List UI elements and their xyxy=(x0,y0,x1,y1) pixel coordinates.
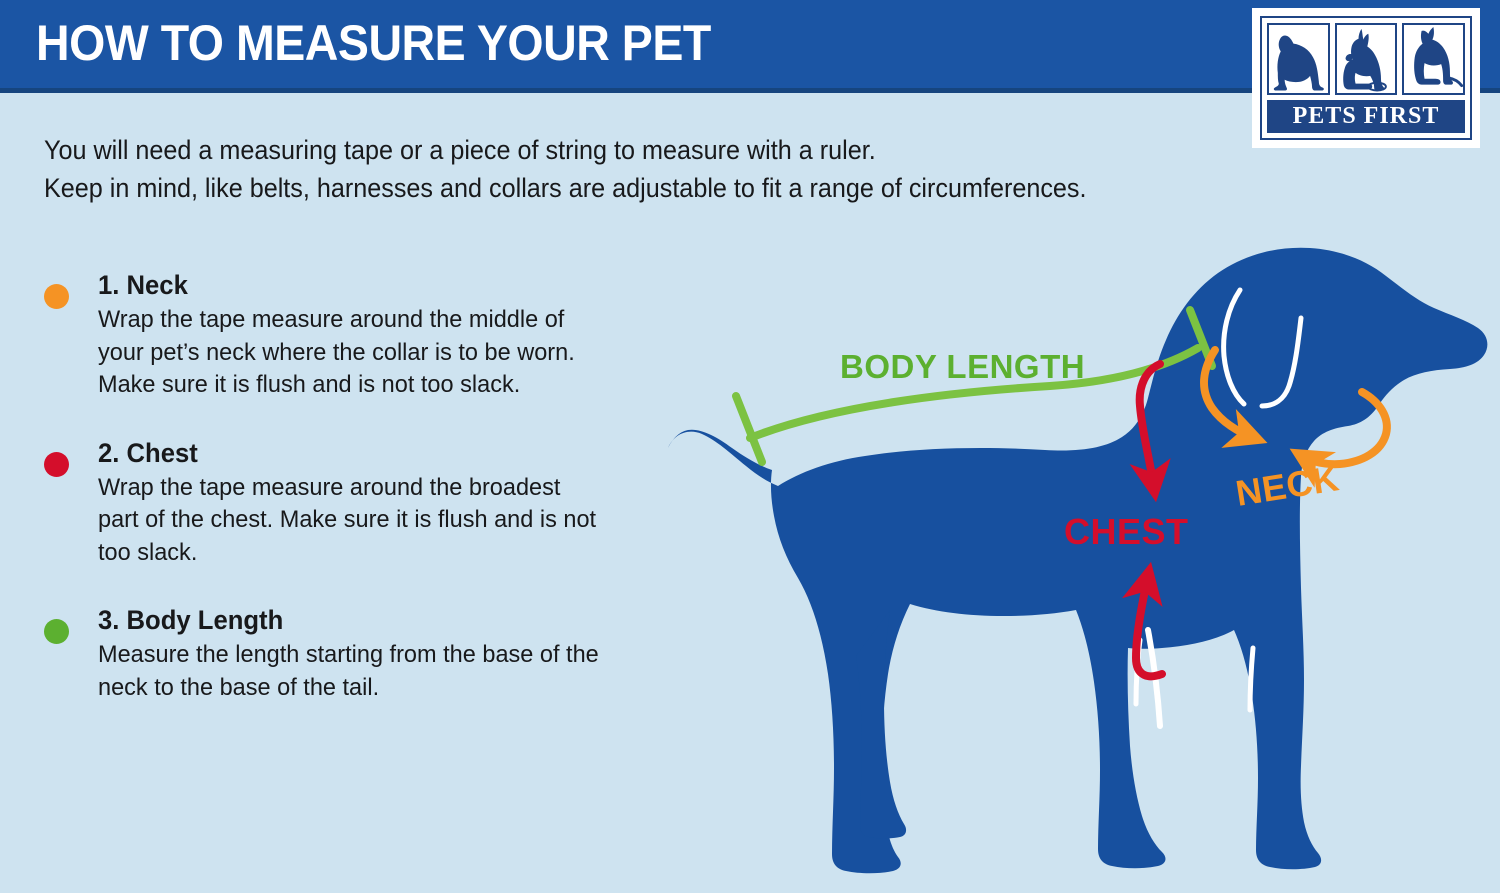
dog-silhouette-icon xyxy=(668,248,1487,874)
body-length-label: BODY LENGTH xyxy=(840,348,1085,385)
step-neck: 1. Neck Wrap the tape measure around the… xyxy=(40,270,660,402)
intro-line-1: You will need a measuring tape or a piec… xyxy=(44,132,1279,170)
step-neck-body-line-2: your pet’s neck where the collar is to b… xyxy=(98,337,638,370)
step-chest-title: 2. Chest xyxy=(98,438,632,469)
chest-label: CHEST xyxy=(1064,511,1189,552)
step-chest-body: Wrap the tape measure around the broades… xyxy=(98,472,638,570)
step-neck-body-line-3: Make sure it is flush and is not too sla… xyxy=(98,369,638,402)
logo-dog-begging-icon xyxy=(1335,23,1398,95)
intro-text: You will need a measuring tape or a piec… xyxy=(44,132,1344,207)
step-neck-body: Wrap the tape measure around the middle … xyxy=(98,304,638,402)
brand-logo: PETS FIRST xyxy=(1252,8,1480,148)
intro-line-2: Keep in mind, like belts, harnesses and … xyxy=(44,170,1279,208)
step-neck-body-line-1: Wrap the tape measure around the middle … xyxy=(98,304,638,337)
step-body-length-title: 3. Body Length xyxy=(98,605,632,636)
bullet-neck xyxy=(44,284,69,309)
logo-wordmark-text: PETS FIRST xyxy=(1293,103,1440,130)
step-neck-title: 1. Neck xyxy=(98,270,632,301)
step-chest: 2. Chest Wrap the tape measure around th… xyxy=(40,438,660,570)
step-chest-body-line-1: Wrap the tape measure around the broades… xyxy=(98,472,638,505)
logo-dog-sitting-icon xyxy=(1402,23,1465,95)
step-chest-body-line-2: part of the chest. Make sure it is flush… xyxy=(98,504,638,537)
measurement-steps-list: 1. Neck Wrap the tape measure around the… xyxy=(40,270,660,735)
bullet-body-length xyxy=(44,619,69,644)
logo-inner-frame: PETS FIRST xyxy=(1260,16,1472,140)
step-chest-body-line-3: too slack. xyxy=(98,537,638,570)
logo-dog-panels xyxy=(1267,23,1465,95)
logo-wordmark: PETS FIRST xyxy=(1267,100,1465,133)
step-body-length-body-line-2: neck to the base of the tail. xyxy=(98,672,638,705)
logo-dog-lying-icon xyxy=(1267,23,1330,95)
page-title: HOW TO MEASURE YOUR PET xyxy=(36,14,711,72)
bullet-chest xyxy=(44,452,69,477)
step-body-length-body-line-1: Measure the length starting from the bas… xyxy=(98,639,638,672)
step-body-length: 3. Body Length Measure the length starti… xyxy=(40,605,660,704)
dog-measurement-diagram: BODY LENGTH NECK CHEST xyxy=(650,210,1500,893)
step-body-length-body: Measure the length starting from the bas… xyxy=(98,639,638,704)
